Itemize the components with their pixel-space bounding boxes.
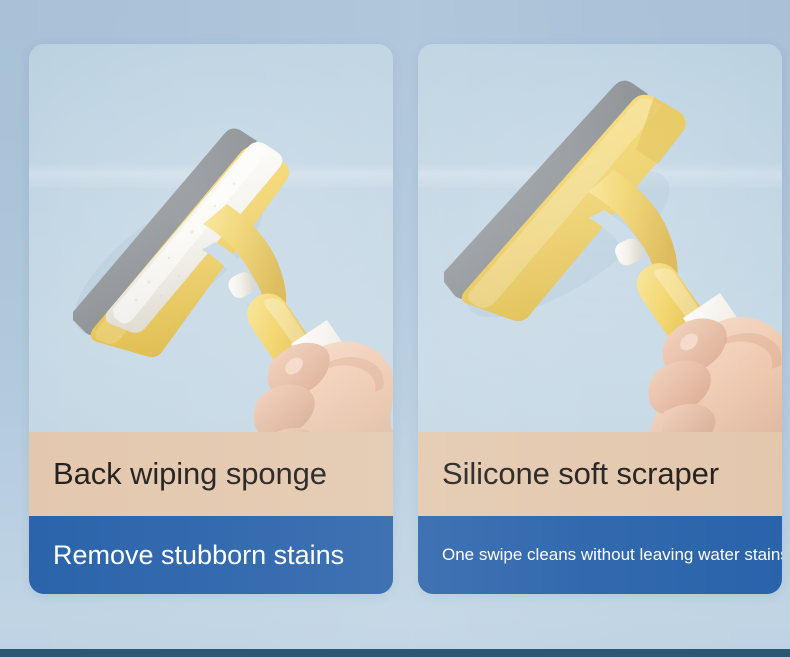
panel-title-band-left: Back wiping sponge xyxy=(29,432,393,516)
product-feature-image: Back wiping sponge Remove stubborn stain… xyxy=(0,0,790,657)
feature-panel-back-wiping-sponge: Back wiping sponge Remove stubborn stain… xyxy=(29,44,393,594)
panel-subtitle-text: One swipe cleans without leaving water s… xyxy=(442,545,782,565)
bottom-accent-strip xyxy=(0,649,790,657)
product-photo-scraper xyxy=(418,44,782,432)
panel-title-text: Back wiping sponge xyxy=(53,456,327,492)
product-photo-sponge xyxy=(29,44,393,432)
panel-subtitle-band-left: Remove stubborn stains xyxy=(29,516,393,594)
panel-subtitle-band-right: One swipe cleans without leaving water s… xyxy=(418,516,782,594)
feature-panel-silicone-soft-scraper: Silicone soft scraper One swipe cleans w… xyxy=(418,44,782,594)
panel-title-text: Silicone soft scraper xyxy=(442,456,719,492)
squeegee-sponge-illustration xyxy=(29,44,393,432)
panel-title-band-right: Silicone soft scraper xyxy=(418,432,782,516)
squeegee-scraper-illustration xyxy=(418,44,782,432)
panel-subtitle-text: Remove stubborn stains xyxy=(53,540,344,571)
